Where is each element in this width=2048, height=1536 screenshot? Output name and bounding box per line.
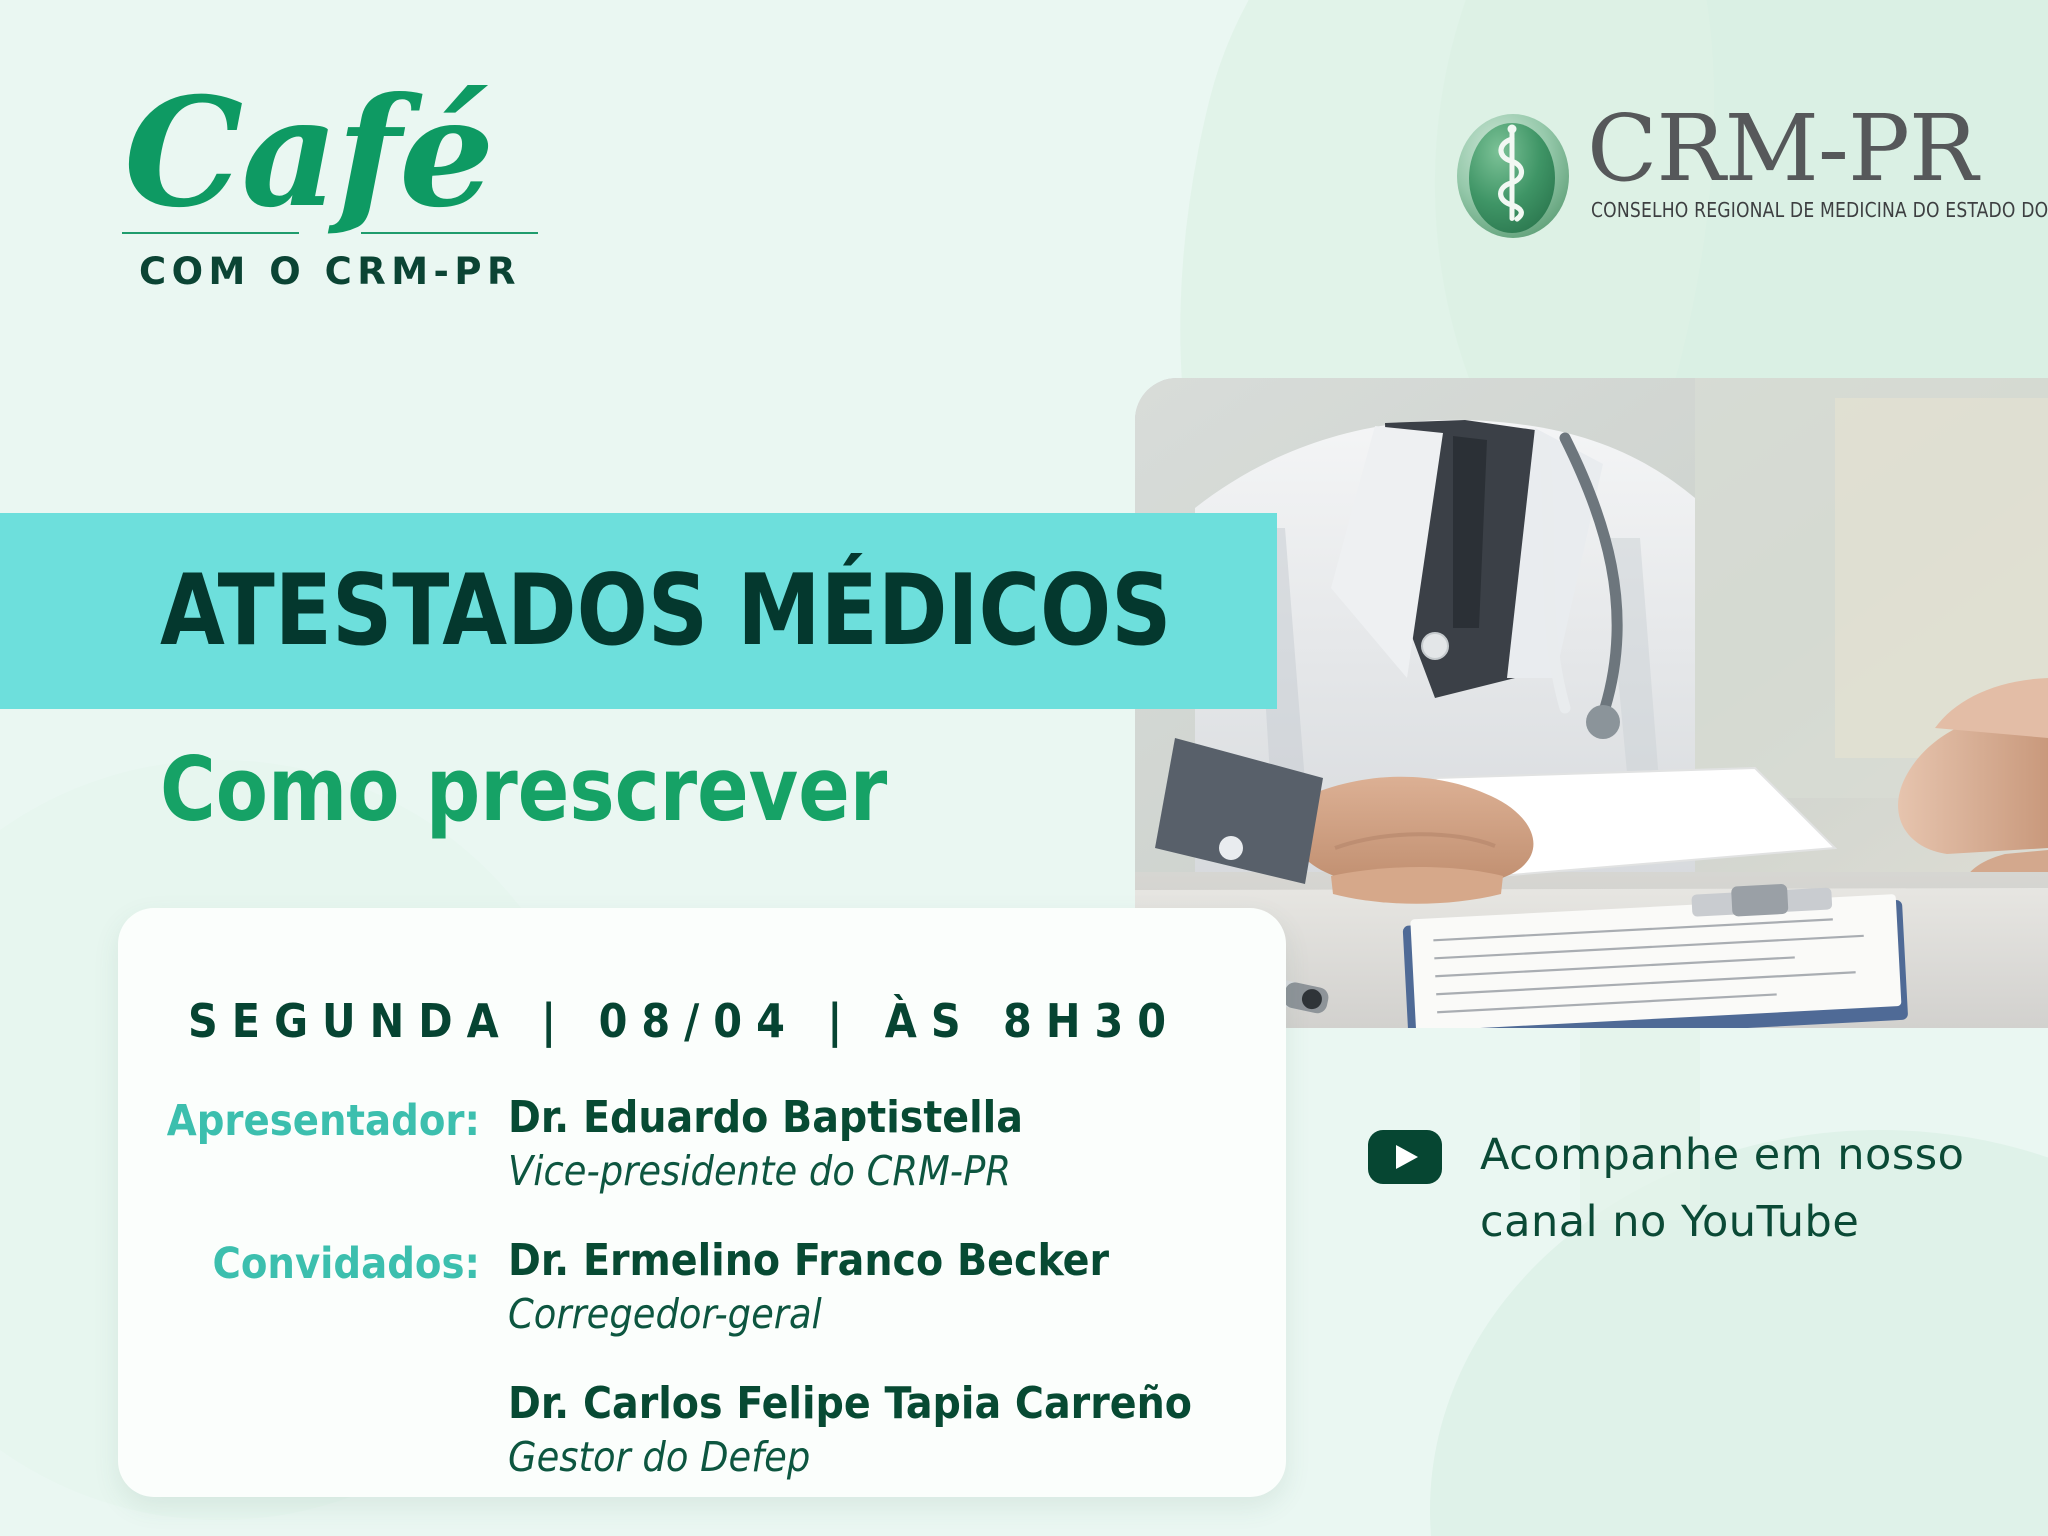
event-date-line: SEGUNDA | 08/04 | ÀS 8H30 (118, 908, 1286, 1048)
list-item: Apresentador: Dr. Eduardo Baptistella Vi… (164, 1092, 1286, 1195)
list-item: Convidados: Dr. Ermelino Franco Becker C… (164, 1235, 1286, 1338)
speaker-details: Dr. Eduardo Baptistella Vice-presidente … (480, 1092, 1023, 1195)
youtube-callout[interactable]: Acompanhe em nosso canal no YouTube (1368, 1122, 1968, 1255)
speaker-role-label (164, 1378, 480, 1382)
speaker-name: Dr. Eduardo Baptistella (508, 1092, 1023, 1143)
event-info-card: SEGUNDA | 08/04 | ÀS 8H30 Apresentador: … (118, 908, 1286, 1497)
poster-canvas: Café COM O CRM-PR (0, 0, 2048, 1536)
cafe-divider-left (122, 232, 299, 234)
headline-band: ATESTADOS MÉDICOS (0, 513, 1277, 709)
cafe-wordmark: Café (118, 78, 538, 228)
spacer (164, 1346, 1286, 1378)
speaker-name: Dr. Carlos Felipe Tapia Carreño (508, 1378, 1192, 1429)
speaker-details: Dr. Ermelino Franco Becker Corregedor-ge… (480, 1235, 1109, 1338)
speaker-name: Dr. Ermelino Franco Becker (508, 1235, 1109, 1286)
crm-pr-acronym: CRM-PR (1587, 107, 2048, 192)
speaker-role-label: Convidados: (164, 1235, 480, 1289)
speaker-title: Vice-presidente do CRM-PR (508, 1147, 1023, 1195)
speakers-list: Apresentador: Dr. Eduardo Baptistella Vi… (118, 1092, 1286, 1481)
spacer (164, 1203, 1286, 1235)
youtube-callout-line-1: Acompanhe em nosso (1480, 1130, 1964, 1180)
speaker-title: Corregedor-geral (508, 1290, 1109, 1338)
page-title: ATESTADOS MÉDICOS (160, 554, 1172, 668)
crm-pr-tagline: CONSELHO REGIONAL DE MEDICINA DO ESTADO … (1591, 198, 2048, 222)
speaker-details: Dr. Carlos Felipe Tapia Carreño Gestor d… (480, 1378, 1192, 1481)
cafe-logo: Café COM O CRM-PR (118, 78, 538, 293)
crm-pr-logo: CRM-PR CONSELHO REGIONAL DE MEDICINA DO … (1455, 103, 2048, 239)
speaker-title: Gestor do Defep (508, 1433, 1192, 1481)
youtube-callout-text: Acompanhe em nosso canal no YouTube (1480, 1122, 1964, 1255)
speaker-role-label: Apresentador: (164, 1092, 480, 1146)
youtube-callout-line-2: canal no YouTube (1480, 1197, 1859, 1247)
page-subtitle: Como prescrever (160, 738, 887, 841)
rod-of-asclepius-icon (1455, 113, 1571, 239)
youtube-play-icon[interactable] (1368, 1130, 1442, 1184)
list-item: Dr. Carlos Felipe Tapia Carreño Gestor d… (164, 1378, 1286, 1481)
cafe-subtitle: COM O CRM-PR (118, 250, 538, 293)
crm-pr-text: CRM-PR CONSELHO REGIONAL DE MEDICINA DO … (1587, 103, 2048, 222)
cafe-divider-right (361, 232, 538, 234)
